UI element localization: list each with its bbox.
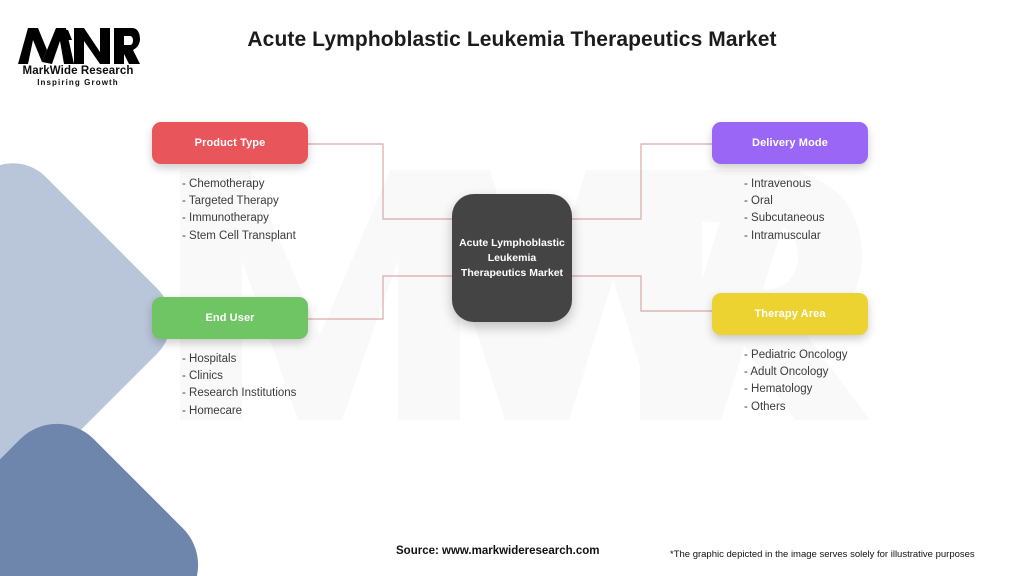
list-item: - Research Institutions (182, 385, 308, 402)
branch-pill-product-type[interactable]: Product Type (152, 122, 308, 164)
logo-company-name: MarkWide Research (16, 65, 140, 77)
branch-product-type: Product Type - Chemotherapy - Targeted T… (152, 122, 308, 245)
list-item: - Hospitals (182, 351, 308, 368)
list-item: - Others (744, 399, 868, 416)
branch-list-delivery-mode: - Intravenous - Oral - Subcutaneous - In… (712, 176, 868, 245)
branch-label-therapy-area: Therapy Area (754, 308, 825, 320)
list-item: - Intravenous (744, 176, 868, 193)
center-node-label: Acute Lymphoblastic Leukemia Therapeutic… (453, 236, 571, 281)
branch-label-end-user: End User (205, 312, 254, 324)
page-title: Acute Lymphoblastic Leukemia Therapeutic… (0, 28, 1024, 52)
list-item: - Oral (744, 193, 868, 210)
branch-label-delivery-mode: Delivery Mode (752, 137, 828, 149)
list-item: - Adult Oncology (744, 364, 868, 381)
footer-disclaimer: *The graphic depicted in the image serve… (670, 549, 975, 560)
list-item: - Targeted Therapy (182, 193, 308, 210)
list-item: - Homecare (182, 403, 308, 420)
list-item: - Stem Cell Transplant (182, 228, 308, 245)
list-item: - Chemotherapy (182, 176, 308, 193)
background-diamond-dark (0, 402, 220, 576)
list-item: - Clinics (182, 368, 308, 385)
list-item: - Hematology (744, 381, 868, 398)
center-node[interactable]: Acute Lymphoblastic Leukemia Therapeutic… (452, 194, 572, 322)
branch-pill-therapy-area[interactable]: Therapy Area (712, 293, 868, 335)
branch-list-product-type: - Chemotherapy - Targeted Therapy - Immu… (152, 176, 308, 245)
branch-delivery-mode: Delivery Mode - Intravenous - Oral - Sub… (712, 122, 868, 245)
list-item: - Pediatric Oncology (744, 347, 868, 364)
branch-therapy-area: Therapy Area - Pediatric Oncology - Adul… (712, 293, 868, 416)
branch-end-user: End User - Hospitals - Clinics - Researc… (152, 297, 308, 420)
branch-list-end-user: - Hospitals - Clinics - Research Institu… (152, 351, 308, 420)
list-item: - Immunotherapy (182, 210, 308, 227)
branch-label-product-type: Product Type (195, 137, 266, 149)
branch-list-therapy-area: - Pediatric Oncology - Adult Oncology - … (712, 347, 868, 416)
list-item: - Intramuscular (744, 228, 868, 245)
list-item: - Subcutaneous (744, 210, 868, 227)
branch-pill-end-user[interactable]: End User (152, 297, 308, 339)
infographic-canvas: MarkWide Research Inspiring Growth Acute… (0, 0, 1024, 576)
footer-source[interactable]: Source: www.markwideresearch.com (396, 545, 599, 557)
logo-tagline: Inspiring Growth (16, 78, 140, 87)
branch-pill-delivery-mode[interactable]: Delivery Mode (712, 122, 868, 164)
